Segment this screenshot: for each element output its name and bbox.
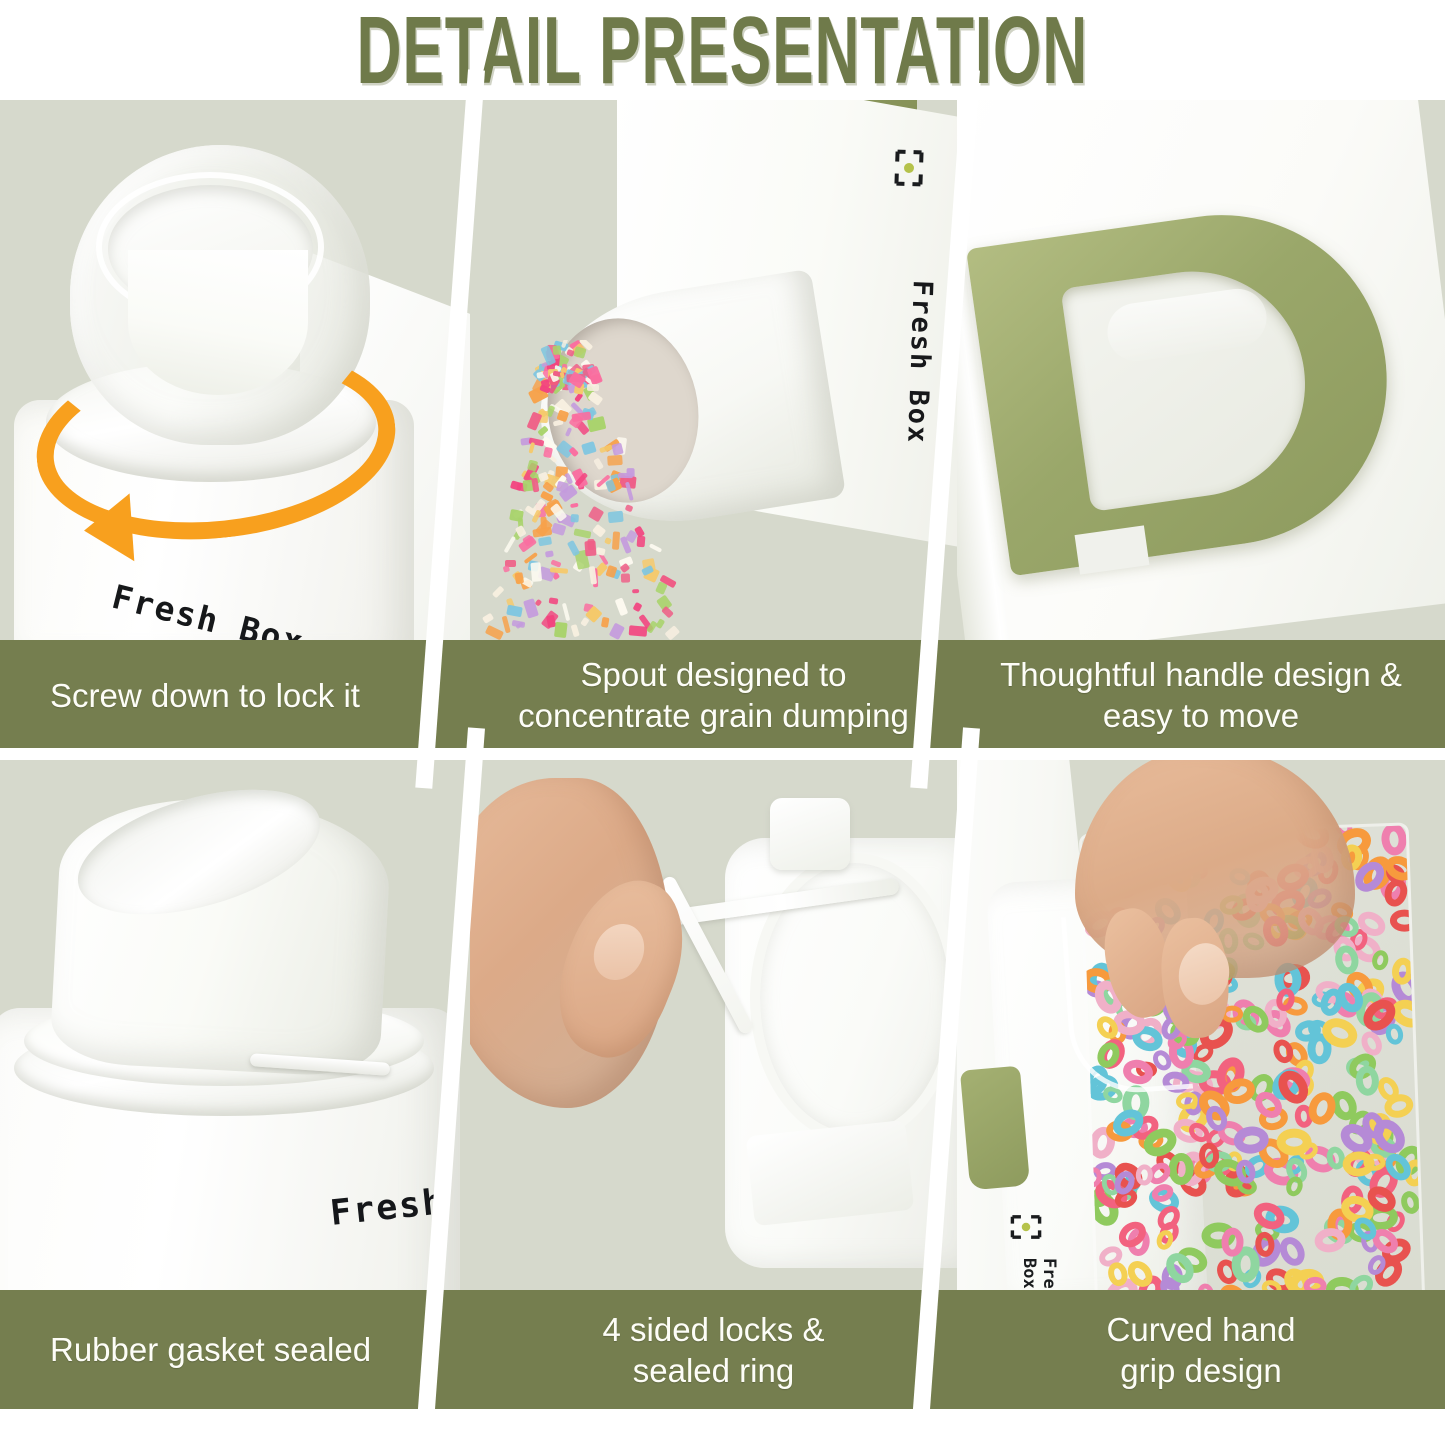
panel-curved-grip-caption: Curved hand grip design [957,1290,1445,1409]
panel-four-sided-locks[interactable]: 4 sided locks & sealed ring [470,758,957,1409]
caption-text: 4 sided locks & sealed ring [603,1309,825,1391]
fresh-box-logo-icon [1009,1210,1043,1244]
panel-curved-grip[interactable]: Fresh Box Curved hand grip design [957,758,1445,1409]
lock-tab-top [770,798,850,870]
panel-rubber-gasket-caption: Rubber gasket sealed [0,1290,470,1409]
brand-label: Fresh Box [901,280,938,445]
panel-four-sided-locks-caption: 4 sided locks & sealed ring [470,1290,957,1409]
panel-rubber-gasket-photo: Fresh [0,758,470,1290]
green-lock-tab [960,1066,1030,1191]
panel-screw-lock-photo: Fresh Box [0,100,470,640]
panel-row-top: Fresh Box Screw down to lock it Fresh Bo… [0,100,1445,750]
panel-curved-grip-photo: Fresh Box [957,758,1445,1290]
caption-text: Rubber gasket sealed [50,1329,371,1370]
panel-handle-design-caption: Thoughtful handle design & easy to move [957,640,1445,750]
fresh-box-logo-icon [888,147,929,188]
panel-handle-design-photo [957,100,1445,640]
rotate-arrow-head-icon [82,493,135,564]
caption-text: Curved hand grip design [1107,1309,1296,1391]
page-title: DETAIL PRESENTATION [357,2,1089,97]
panel-handle-design[interactable]: Thoughtful handle design & easy to move [957,100,1445,750]
brand-label: Fresh Box [1019,1258,1059,1290]
caption-text: Spout designed to concentrate grain dump… [518,654,909,736]
lock-tab-bottom [746,1120,915,1226]
panel-spout-pour-photo: Fresh Box [470,100,957,640]
panel-screw-lock[interactable]: Fresh Box Screw down to lock it [0,100,470,750]
panel-screw-lock-caption: Screw down to lock it [0,640,470,750]
panel-spout-pour-caption: Spout designed to concentrate grain dump… [470,640,957,750]
panel-grid: Fresh Box Screw down to lock it Fresh Bo… [0,100,1445,1409]
panel-four-sided-locks-photo [470,758,957,1290]
panel-row-bottom: Fresh Rubber gasket sealed 4 sided [0,758,1445,1409]
caption-text: Screw down to lock it [50,675,360,716]
panel-row-divider [0,748,1445,760]
panel-spout-pour[interactable]: Fresh Box Spout designed to concentrate … [470,100,957,750]
caption-text: Thoughtful handle design & easy to move [1000,654,1402,736]
grain-stream [470,340,760,640]
panel-rubber-gasket[interactable]: Fresh Rubber gasket sealed [0,758,470,1409]
page-header: DETAIL PRESENTATION [0,0,1445,100]
